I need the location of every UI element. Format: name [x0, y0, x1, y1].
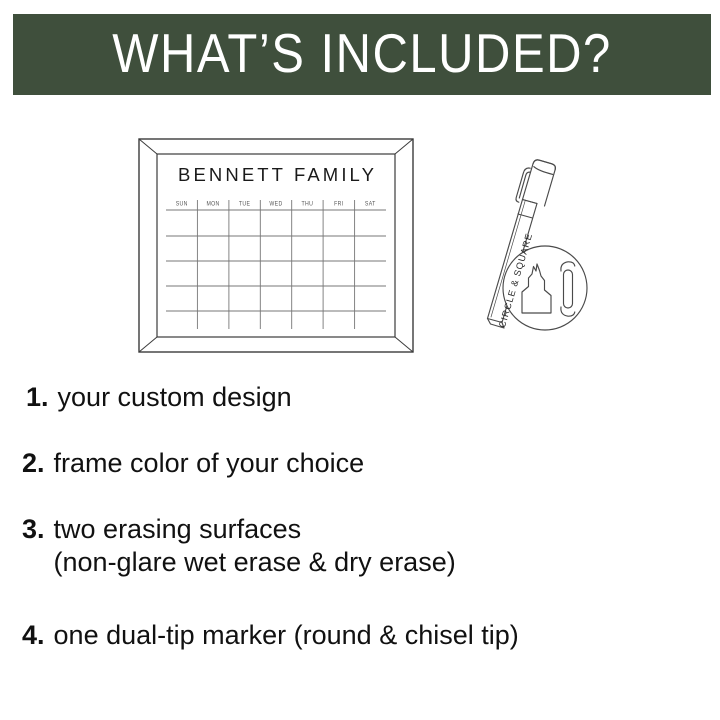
list-item-text: one dual-tip marker (round & chisel tip): [54, 620, 519, 650]
list-item-text: two erasing surfaces: [54, 514, 302, 544]
weekday-label-mon: MON: [197, 200, 228, 208]
list-item-text: frame color of your choice: [54, 448, 365, 478]
list-item: 3. two erasing surfaces (non-glare wet e…: [22, 514, 456, 577]
illustration-row: BENNETT FAMILY SUN MON TUE WED THU FRI S…: [0, 112, 720, 382]
list-item: 4. one dual-tip marker (round & chisel t…: [22, 620, 519, 650]
list-item-number: 4.: [22, 620, 45, 650]
page-title: WHAT’S INCLUDED?: [112, 27, 612, 82]
weekday-label-sun: SUN: [166, 200, 197, 208]
list-item-subline: (non-glare wet erase & dry erase): [54, 547, 456, 577]
weekday-label-tue: TUE: [229, 200, 260, 208]
marker-drawing: [466, 140, 596, 355]
list-item-number: 3.: [22, 514, 45, 544]
list-item: 2. frame color of your choice: [22, 448, 364, 478]
list-item: 1. your custom design: [26, 382, 292, 412]
list-item-text: your custom design: [58, 382, 292, 412]
weekday-label-thu: THU: [292, 200, 323, 208]
calendar-illustration: BENNETT FAMILY SUN MON TUE WED THU FRI S…: [138, 138, 414, 353]
weekday-label-wed: WED: [260, 200, 291, 208]
calendar-board-title: BENNETT FAMILY: [138, 164, 414, 186]
marker-illustration: CIRCLE & SQUARE: [466, 140, 596, 355]
weekday-label-fri: FRI: [323, 200, 354, 208]
header-banner: WHAT’S INCLUDED?: [13, 14, 711, 95]
list-item-number: 2.: [22, 448, 45, 478]
weekday-label-sat: SAT: [355, 200, 386, 208]
list-item-number: 1.: [26, 382, 49, 412]
list-item-text-block: two erasing surfaces (non-glare wet eras…: [54, 514, 456, 577]
